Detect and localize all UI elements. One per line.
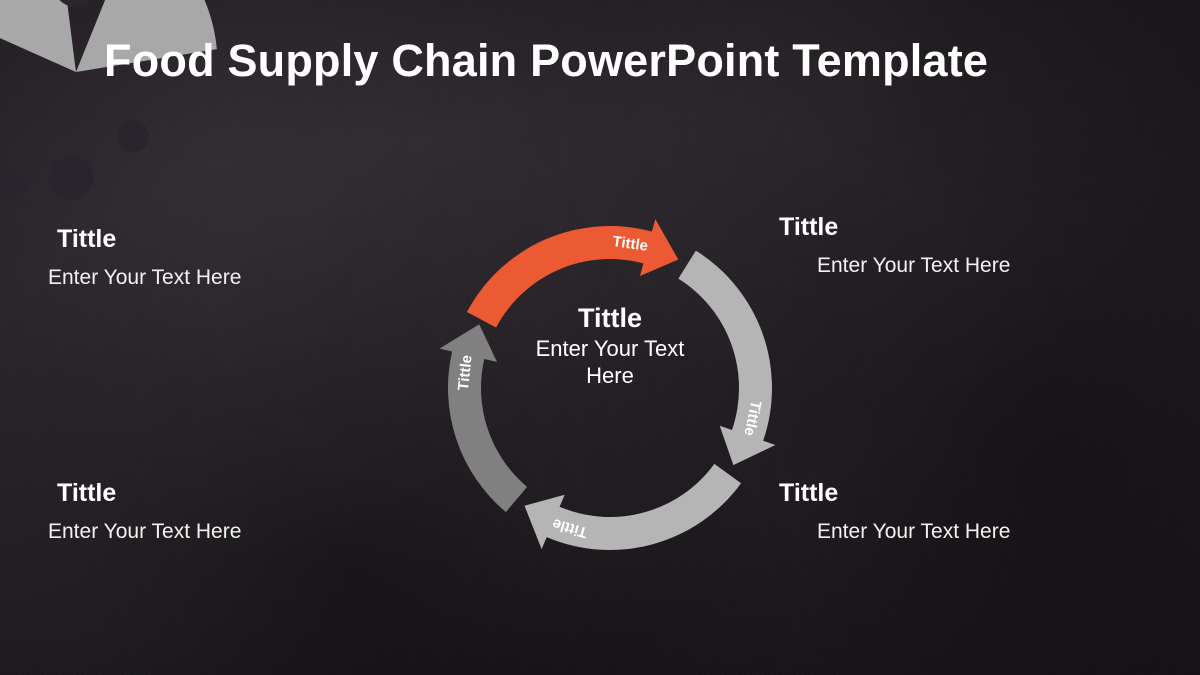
callout-body: Enter Your Text Here [48,265,378,290]
callout-top-left: Tittle Enter Your Text Here [48,226,378,290]
pizza-slices-logo [0,0,226,222]
callout-title: Tittle [779,214,1119,242]
callout-body: Enter Your Text Here [817,253,1119,278]
callout-bottom-left: Tittle Enter Your Text Here [48,480,378,544]
cycle-center-text: Tittle Enter Your Text Here [440,303,780,389]
pepperoni-dot [0,169,26,199]
segment-bottom-left[interactable] [524,464,741,550]
callout-top-right: Tittle Enter Your Text Here [779,214,1119,278]
cycle-center-body-line1: Enter Your Text [440,336,780,362]
callout-title: Tittle [779,480,1119,508]
callout-title: Tittle [57,226,378,254]
callout-bottom-right: Tittle Enter Your Text Here [779,480,1119,544]
cycle-center-body-line2: Here [440,363,780,389]
page-title: Food Supply Chain PowerPoint Template [104,36,1134,86]
callout-body: Enter Your Text Here [48,519,378,544]
callout-body: Enter Your Text Here [817,519,1119,544]
slide: Food Supply Chain PowerPoint Template Ti… [0,0,1200,675]
cycle-center-title: Tittle [440,303,780,334]
pepperoni-dot [117,120,149,152]
pepperoni-dot [49,156,93,200]
callout-title: Tittle [57,480,378,508]
